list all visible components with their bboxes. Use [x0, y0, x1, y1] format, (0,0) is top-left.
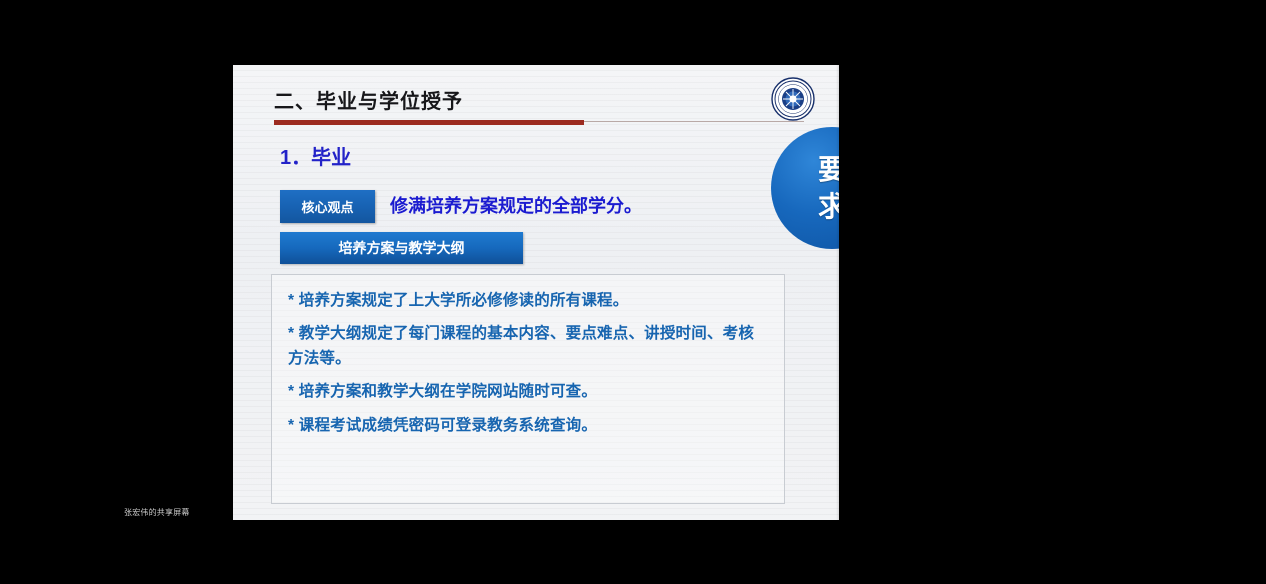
bullet-item: * 课程考试成绩凭密码可登录教务系统查询。 — [288, 414, 768, 438]
bullet-item: * 培养方案和教学大纲在学院网站随时可查。 — [288, 380, 768, 404]
plan-and-syllabus-bar: 培养方案与教学大纲 — [280, 232, 523, 264]
requirement-badge-line1: 要 — [818, 152, 839, 187]
requirement-badge: 要 求 — [771, 127, 839, 249]
slide-title: 二、毕业与学位授予 — [274, 85, 463, 114]
bullet-item: * 培养方案规定了上大学所必修修读的所有课程。 — [288, 289, 768, 313]
share-owner-label: 张宏伟的共享屏幕 — [124, 507, 190, 518]
requirement-badge-line2: 求 — [818, 189, 839, 224]
core-viewpoint-chip: 核心观点 — [280, 190, 375, 223]
participant-filmstrip[interactable]: 张宏伟 周丛获 — [940, 0, 1266, 584]
section-heading: 1．毕业 — [280, 141, 351, 170]
headline-text: 修满培养方案规定的全部学分。 — [390, 192, 642, 218]
presentation-slide[interactable]: 二、毕业与学位授予 — [233, 65, 839, 520]
bullets-panel: * 培养方案规定了上大学所必修修读的所有课程。 * 教学大纲规定了每门课程的基本… — [271, 274, 785, 504]
university-seal-icon — [771, 77, 815, 121]
title-rule-accent — [274, 120, 584, 125]
bullet-item: * 教学大纲规定了每门课程的基本内容、要点难点、讲授时间、考核方法等。 — [288, 322, 768, 371]
meeting-screen-share-view: 二、毕业与学位授予 — [0, 0, 1266, 584]
shared-screen-stage[interactable]: 二、毕业与学位授予 — [0, 0, 940, 584]
